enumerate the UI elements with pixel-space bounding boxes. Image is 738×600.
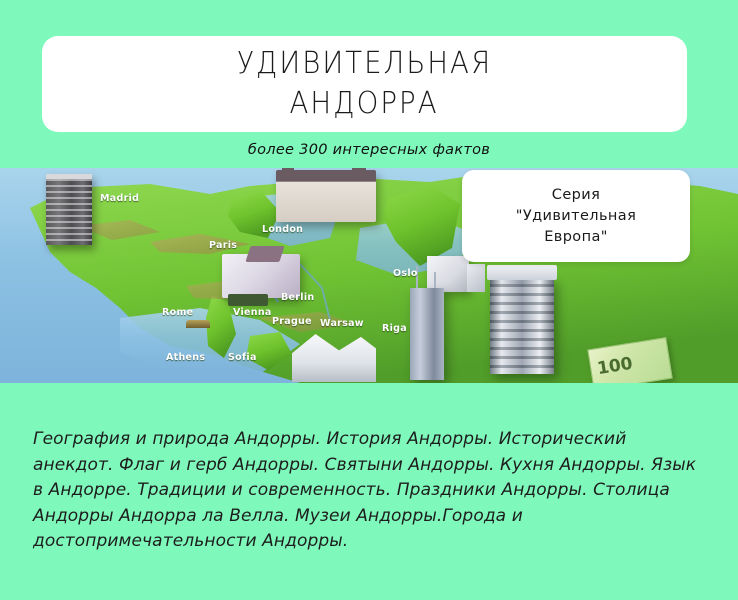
series-card-text: Серия "Удивительная Европа" bbox=[516, 185, 636, 248]
description-text: География и природа Андорры. История Анд… bbox=[33, 427, 705, 555]
description-block: География и природа Андорры. История Анд… bbox=[0, 383, 738, 600]
dark-office-tower-prop bbox=[46, 174, 92, 245]
poster-root: УДИВИТЕЛЬНАЯ АНДОРРА более 300 интересны… bbox=[0, 0, 738, 600]
striped-office-block-prop bbox=[490, 278, 554, 374]
page-title-line-2: АНДОРРА bbox=[290, 84, 439, 124]
white-villa-prop bbox=[222, 254, 300, 298]
subtitle: более 300 интересных фактов bbox=[0, 142, 738, 158]
chateau-castle-prop bbox=[276, 170, 376, 222]
stone-bridge-prop bbox=[186, 320, 210, 328]
glass-skyscraper-prop bbox=[410, 288, 444, 380]
series-line-2: "Удивительная bbox=[516, 206, 636, 227]
series-line-1: Серия bbox=[516, 185, 636, 206]
series-card: Серия "Удивительная Европа" bbox=[462, 170, 690, 262]
series-line-3: Европа" bbox=[516, 227, 636, 248]
page-title-line-1: УДИВИТЕЛЬНАЯ bbox=[237, 44, 492, 84]
title-card: УДИВИТЕЛЬНАЯ АНДОРРА bbox=[42, 36, 687, 132]
